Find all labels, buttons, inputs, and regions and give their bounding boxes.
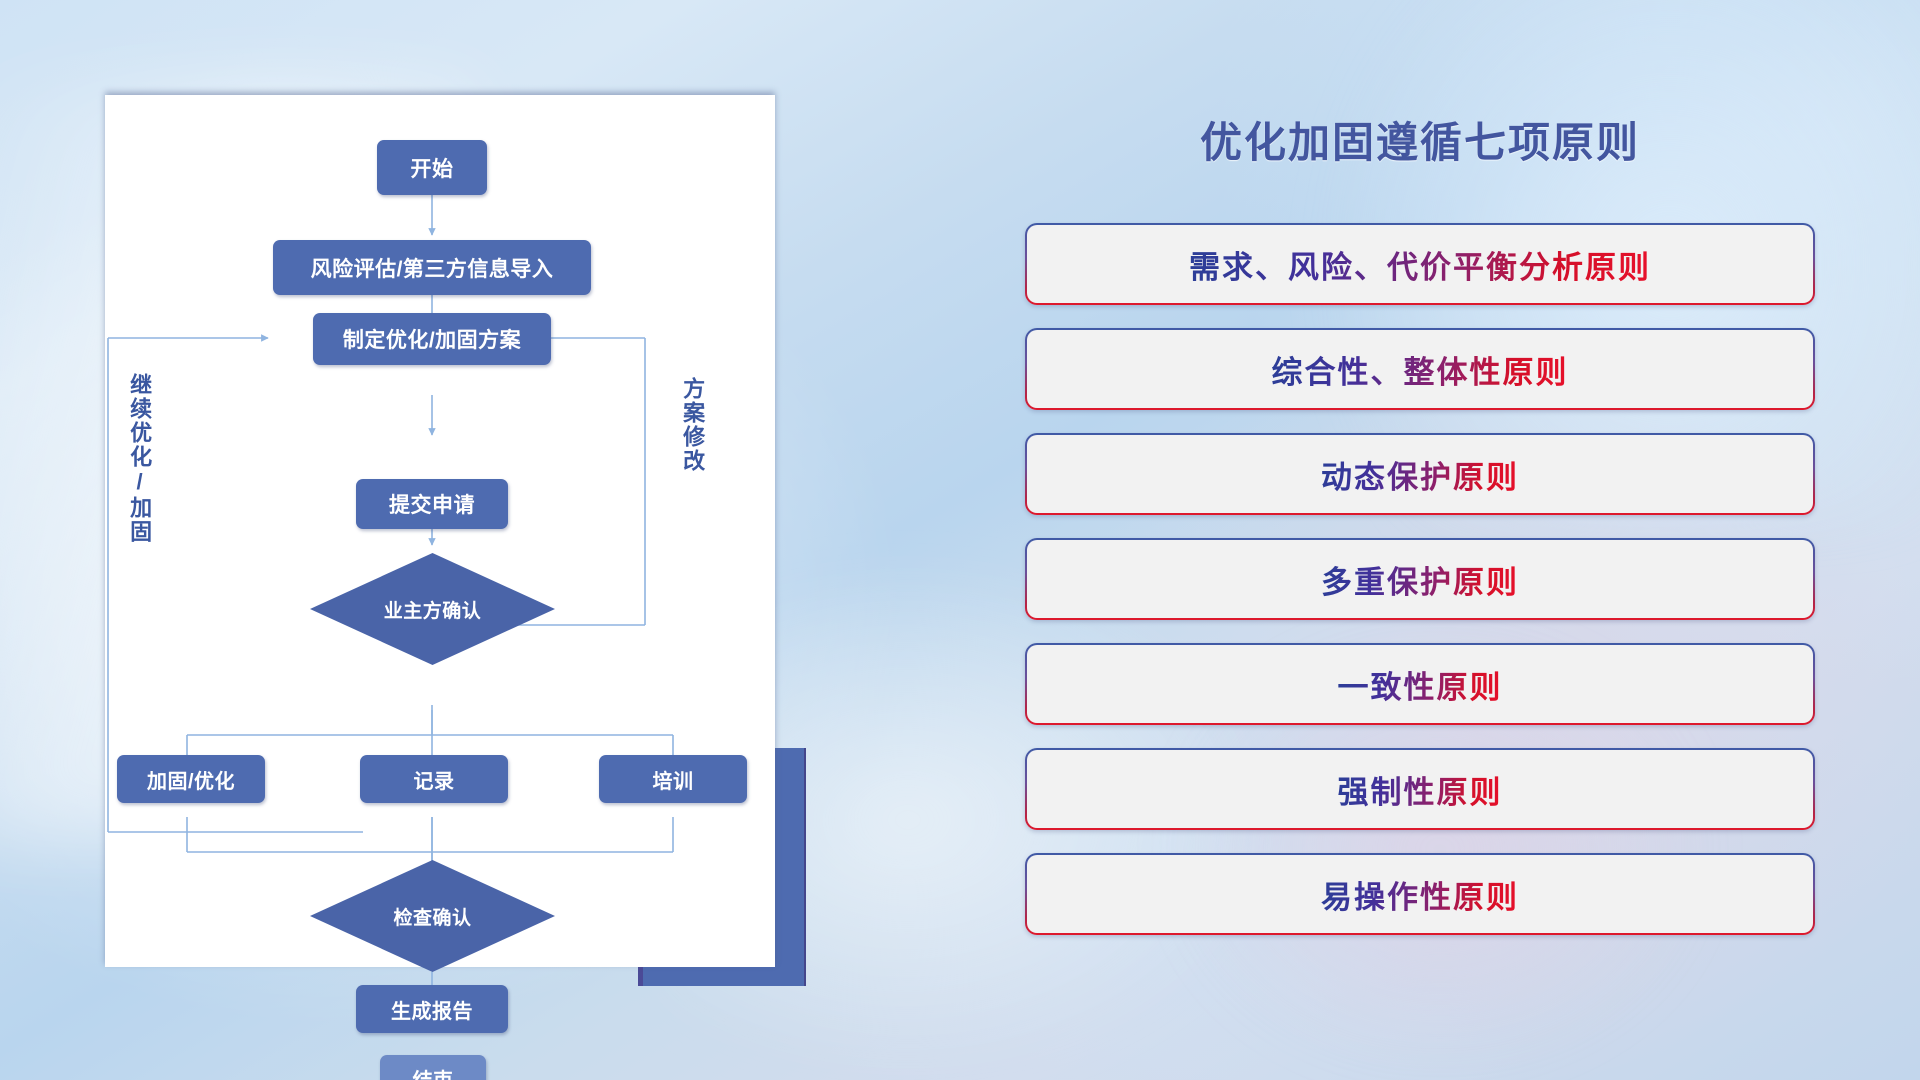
flow-node-training-label: 培训 bbox=[653, 765, 694, 794]
principle-card-7-label: 易操作性原则 bbox=[1321, 872, 1519, 917]
principle-card-1-inner: 需求、风险、代价平衡分析原则 bbox=[1027, 225, 1813, 303]
principles-card-list: 需求、风险、代价平衡分析原则 综合性、整体性原则 动态保护原则 多重保护原则 bbox=[1025, 223, 1815, 958]
flow-node-submit-label: 提交申请 bbox=[389, 489, 475, 519]
principle-card-1-label: 需求、风险、代价平衡分析原则 bbox=[1189, 242, 1651, 287]
principle-card-3-inner: 动态保护原则 bbox=[1027, 435, 1813, 513]
flow-node-reinforce[interactable]: 加固/优化 bbox=[117, 755, 265, 803]
flow-node-owner-confirm-label: 业主方确认 bbox=[384, 596, 482, 623]
principle-card-6-label: 强制性原则 bbox=[1338, 767, 1503, 812]
slide-root: 开始 风险评估/第三方信息导入 制定优化/加固方案 提交申请 业主方确认 加固/… bbox=[0, 0, 1920, 1080]
principle-card-7[interactable]: 易操作性原则 bbox=[1025, 853, 1815, 935]
flow-node-risk-assessment-label: 风险评估/第三方信息导入 bbox=[311, 253, 554, 283]
flow-node-plan[interactable]: 制定优化/加固方案 bbox=[313, 313, 551, 365]
flow-node-risk-assessment[interactable]: 风险评估/第三方信息导入 bbox=[273, 240, 591, 295]
principle-card-2[interactable]: 综合性、整体性原则 bbox=[1025, 328, 1815, 410]
principle-card-6[interactable]: 强制性原则 bbox=[1025, 748, 1815, 830]
flow-node-training[interactable]: 培训 bbox=[599, 755, 747, 803]
flowchart-connectors-lower bbox=[105, 95, 775, 967]
flow-node-owner-confirm[interactable]: 业主方确认 bbox=[310, 553, 555, 665]
principle-card-2-label: 综合性、整体性原则 bbox=[1272, 347, 1569, 392]
flow-edge-label-left-loop: 继续优化/加固 bbox=[128, 373, 151, 544]
principle-card-1[interactable]: 需求、风险、代价平衡分析原则 bbox=[1025, 223, 1815, 305]
flow-edge-label-right-loop: 方案修改 bbox=[681, 377, 704, 473]
flow-node-submit[interactable]: 提交申请 bbox=[356, 479, 508, 529]
flowchart: 开始 风险评估/第三方信息导入 制定优化/加固方案 提交申请 业主方确认 加固/… bbox=[105, 95, 775, 967]
flow-node-record[interactable]: 记录 bbox=[360, 755, 508, 803]
flow-node-end[interactable]: 结束 bbox=[380, 1055, 486, 1080]
flow-node-report[interactable]: 生成报告 bbox=[356, 985, 508, 1033]
principles-panel: 优化加固遵循七项原则 需求、风险、代价平衡分析原则 综合性、整体性原则 动态保护… bbox=[1020, 95, 1820, 995]
principle-card-4-label: 多重保护原则 bbox=[1321, 557, 1519, 602]
flow-node-check-confirm[interactable]: 检查确认 bbox=[310, 860, 555, 972]
principle-card-3[interactable]: 动态保护原则 bbox=[1025, 433, 1815, 515]
principle-card-4-inner: 多重保护原则 bbox=[1027, 540, 1813, 618]
principle-card-2-inner: 综合性、整体性原则 bbox=[1027, 330, 1813, 408]
flow-node-reinforce-label: 加固/优化 bbox=[147, 765, 235, 794]
principles-panel-title: 优化加固遵循七项原则 bbox=[1020, 109, 1820, 170]
principle-card-6-inner: 强制性原则 bbox=[1027, 750, 1813, 828]
flow-node-plan-label: 制定优化/加固方案 bbox=[343, 324, 521, 354]
flowchart-panel: 开始 风险评估/第三方信息导入 制定优化/加固方案 提交申请 业主方确认 加固/… bbox=[105, 95, 775, 967]
principle-card-5-inner: 一致性原则 bbox=[1027, 645, 1813, 723]
flow-node-record-label: 记录 bbox=[414, 765, 455, 794]
flow-node-end-label: 结束 bbox=[413, 1064, 454, 1080]
principle-card-5-label: 一致性原则 bbox=[1338, 662, 1503, 707]
principle-card-7-inner: 易操作性原则 bbox=[1027, 855, 1813, 933]
flow-node-report-label: 生成报告 bbox=[391, 995, 473, 1024]
principle-card-4[interactable]: 多重保护原则 bbox=[1025, 538, 1815, 620]
principle-card-5[interactable]: 一致性原则 bbox=[1025, 643, 1815, 725]
principle-card-3-label: 动态保护原则 bbox=[1321, 452, 1519, 497]
flow-node-start-label: 开始 bbox=[411, 153, 454, 183]
flow-node-start[interactable]: 开始 bbox=[377, 140, 487, 195]
flow-node-check-confirm-label: 检查确认 bbox=[393, 903, 471, 930]
